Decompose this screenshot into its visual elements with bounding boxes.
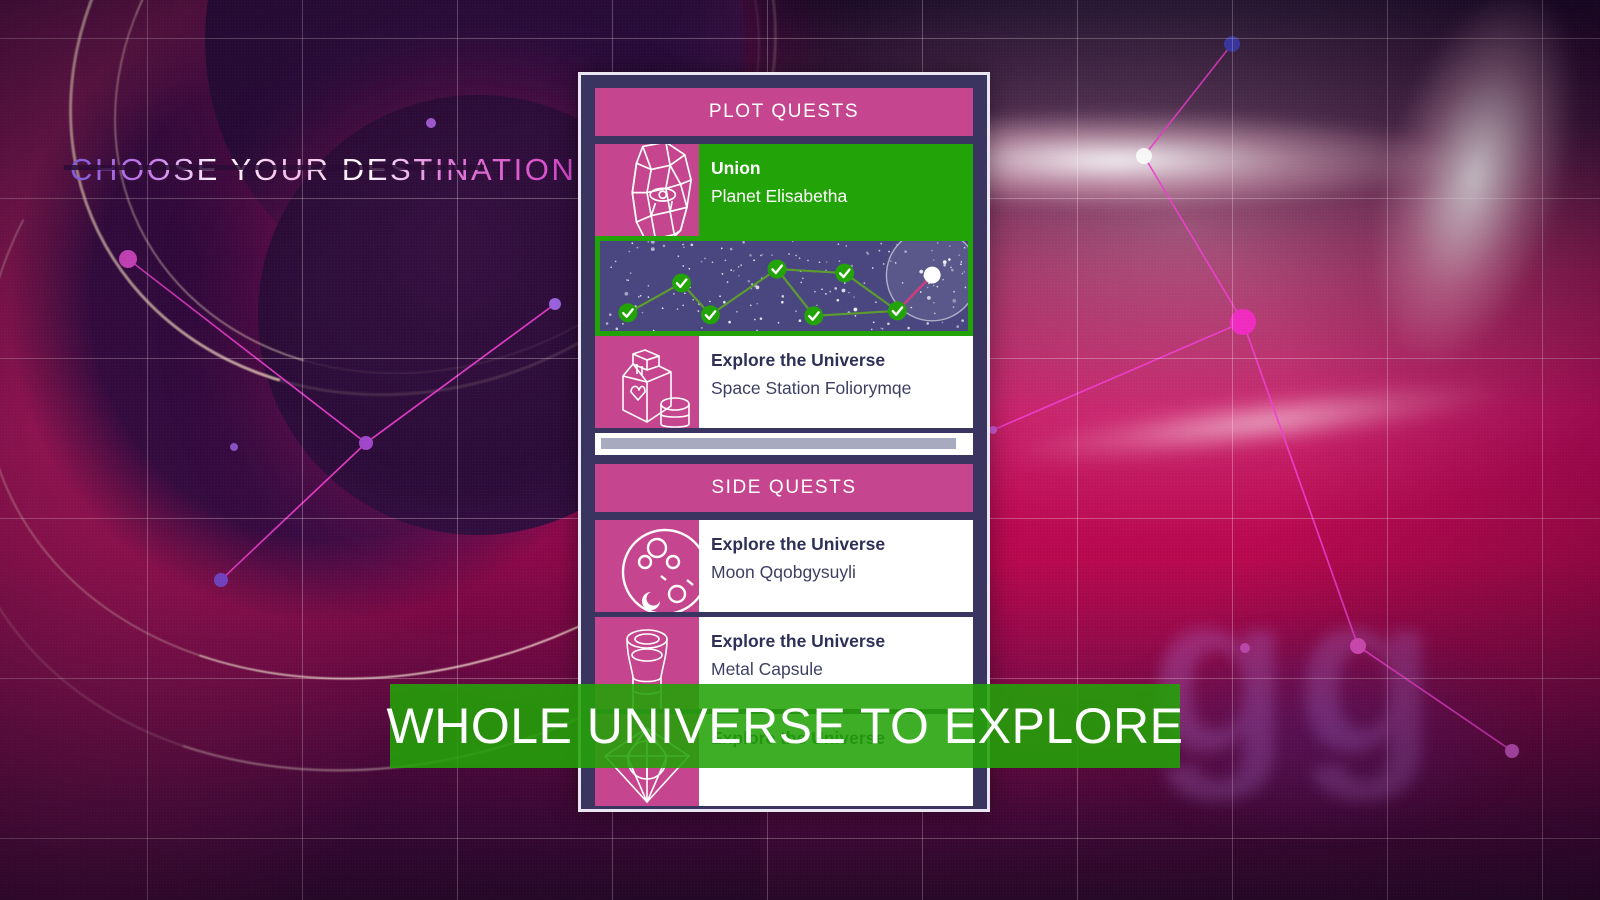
plot-quests-scrollbar[interactable] xyxy=(595,433,973,455)
section-spacer xyxy=(595,512,973,520)
route-node xyxy=(888,301,907,320)
plot-quests-header: PLOT QUESTS xyxy=(595,88,973,136)
route-node xyxy=(804,306,823,325)
card-spacer xyxy=(595,806,973,811)
quest-card-subtitle: Planet Elisabetha xyxy=(711,186,973,208)
crescent-moon-icon xyxy=(595,520,699,612)
page-title: CHOOSE YOUR DESTINATION xyxy=(70,152,576,188)
quest-card[interactable]: Explore the UniverseMoon Qqobgysuyli xyxy=(595,520,973,612)
quest-card-title: Union xyxy=(711,158,973,180)
starmap-canvas xyxy=(600,241,968,331)
quest-card[interactable]: Explore the UniverseSpace Station Folior… xyxy=(595,336,973,428)
promo-banner-text: WHOLE UNIVERSE TO EXPLORE xyxy=(387,697,1184,755)
quest-card-body: UnionPlanet Elisabetha xyxy=(699,144,973,236)
promo-banner: WHOLE UNIVERSE TO EXPLORE xyxy=(390,684,1180,768)
quest-card-subtitle: Moon Qqobgysuyli xyxy=(711,562,973,584)
side-quests-header: SIDE QUESTS xyxy=(595,464,973,512)
section-spacer xyxy=(595,455,973,464)
route-node xyxy=(768,260,787,279)
route-node xyxy=(835,264,854,283)
route-node xyxy=(618,303,637,322)
potion-bottle-icon xyxy=(595,336,699,428)
starmap-chart xyxy=(600,241,968,331)
quest-route-starmap[interactable] xyxy=(595,236,973,336)
quest-card-subtitle: Space Station Foliorymqe xyxy=(711,378,973,400)
scrollbar-thumb[interactable] xyxy=(601,438,956,449)
wireframe-head-icon xyxy=(595,144,699,236)
quest-card-title: Explore the Universe xyxy=(711,631,973,653)
quest-card-title: Explore the Universe xyxy=(711,350,973,372)
route-node xyxy=(672,274,691,293)
quest-card-subtitle: Metal Capsule xyxy=(711,659,973,681)
route-node xyxy=(701,305,720,324)
quest-card[interactable]: UnionPlanet Elisabetha xyxy=(595,144,973,236)
destination-marker xyxy=(924,267,941,284)
quest-card-body: Explore the UniverseSpace Station Folior… xyxy=(699,336,973,428)
section-spacer xyxy=(595,136,973,144)
quest-card-title: Explore the Universe xyxy=(711,534,973,556)
screen: gg CHOOSE YOUR DESTINATION PLOT QUESTSUn… xyxy=(0,0,1600,900)
quest-card-body: Explore the UniverseMoon Qqobgysuyli xyxy=(699,520,973,612)
